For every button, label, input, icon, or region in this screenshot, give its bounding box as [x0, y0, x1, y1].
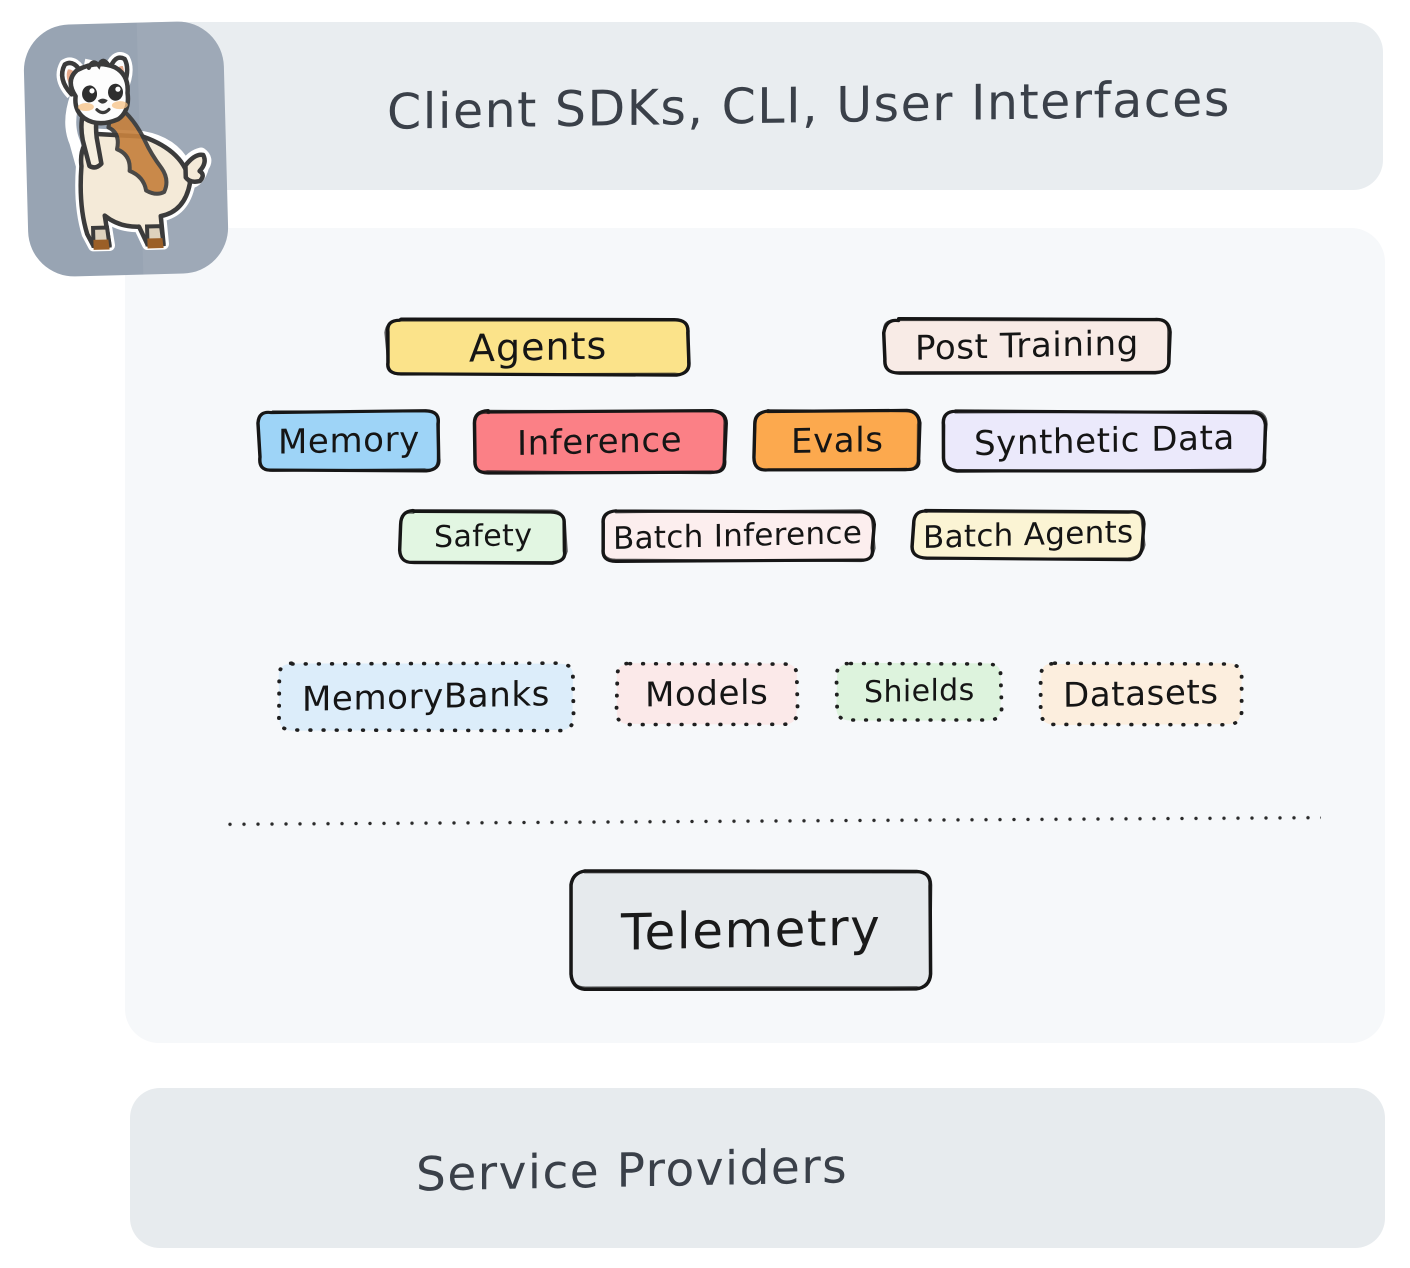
api-box-agents[interactable]: Agents [383, 316, 693, 378]
service-providers-bar: Service Providers [130, 1088, 1385, 1248]
api-box-label: Synthetic Data [973, 421, 1234, 461]
telemetry-box[interactable]: Telemetry [568, 868, 934, 992]
api-box-memorybanks[interactable]: MemoryBanks [275, 660, 577, 734]
api-box-post-training[interactable]: Post Training [881, 316, 1173, 376]
api-box-label: MemoryBanks [302, 677, 550, 717]
client-layer-bar: Client SDKs, CLI, User Interfaces [125, 22, 1383, 190]
api-row-2: MemoryInferenceEvalsSynthetic Data [255, 408, 1269, 476]
api-box-batch-inference[interactable]: Batch Inference [599, 508, 877, 564]
api-box-label: Datasets [1063, 675, 1219, 713]
api-box-label: Post Training [915, 326, 1139, 365]
header-title: Client SDKs, CLI, User Interfaces [277, 70, 1231, 142]
diagram-canvas: Client SDKs, CLI, User Interfaces [0, 0, 1410, 1268]
api-surface-panel: AgentsPost TrainingMemoryInferenceEvalsS… [125, 228, 1385, 1043]
api-box-safety[interactable]: Safety [397, 508, 569, 566]
api-row-3: SafetyBatch InferenceBatch Agents [397, 508, 1147, 566]
api-box-memory[interactable]: Memory [255, 408, 443, 474]
api-box-evals[interactable]: Evals [751, 408, 923, 474]
api-box-batch-agents[interactable]: Batch Agents [909, 508, 1147, 562]
telemetry-slot: Telemetry [568, 868, 934, 992]
api-box-label: Shields [864, 676, 975, 709]
api-box-models[interactable]: Models [613, 660, 801, 728]
dotted-divider [223, 815, 1321, 828]
api-box-shields[interactable]: Shields [833, 660, 1005, 724]
api-box-label: Safety [434, 521, 532, 553]
api-row-1: AgentsPost Training [383, 316, 1173, 378]
api-box-label: Batch Inference [613, 517, 862, 554]
llama-icon [30, 35, 222, 264]
api-box-label: Memory [278, 422, 420, 459]
api-box-inference[interactable]: Inference [471, 408, 729, 476]
api-box-label: Inference [517, 423, 682, 461]
api-box-label: Batch Agents [923, 517, 1133, 554]
api-box-label: Evals [791, 423, 884, 459]
api-box-label: Telemetry [621, 902, 881, 957]
footer-title: Service Providers [416, 1134, 1098, 1202]
api-box-datasets[interactable]: Datasets [1037, 660, 1245, 728]
api-box-label: Agents [469, 326, 607, 367]
llama-logo-badge [23, 20, 230, 277]
api-box-label: Models [645, 675, 769, 712]
api-box-synthetic-data[interactable]: Synthetic Data [939, 408, 1269, 474]
api-row-4: MemoryBanksModelsShieldsDatasets [275, 660, 1245, 734]
